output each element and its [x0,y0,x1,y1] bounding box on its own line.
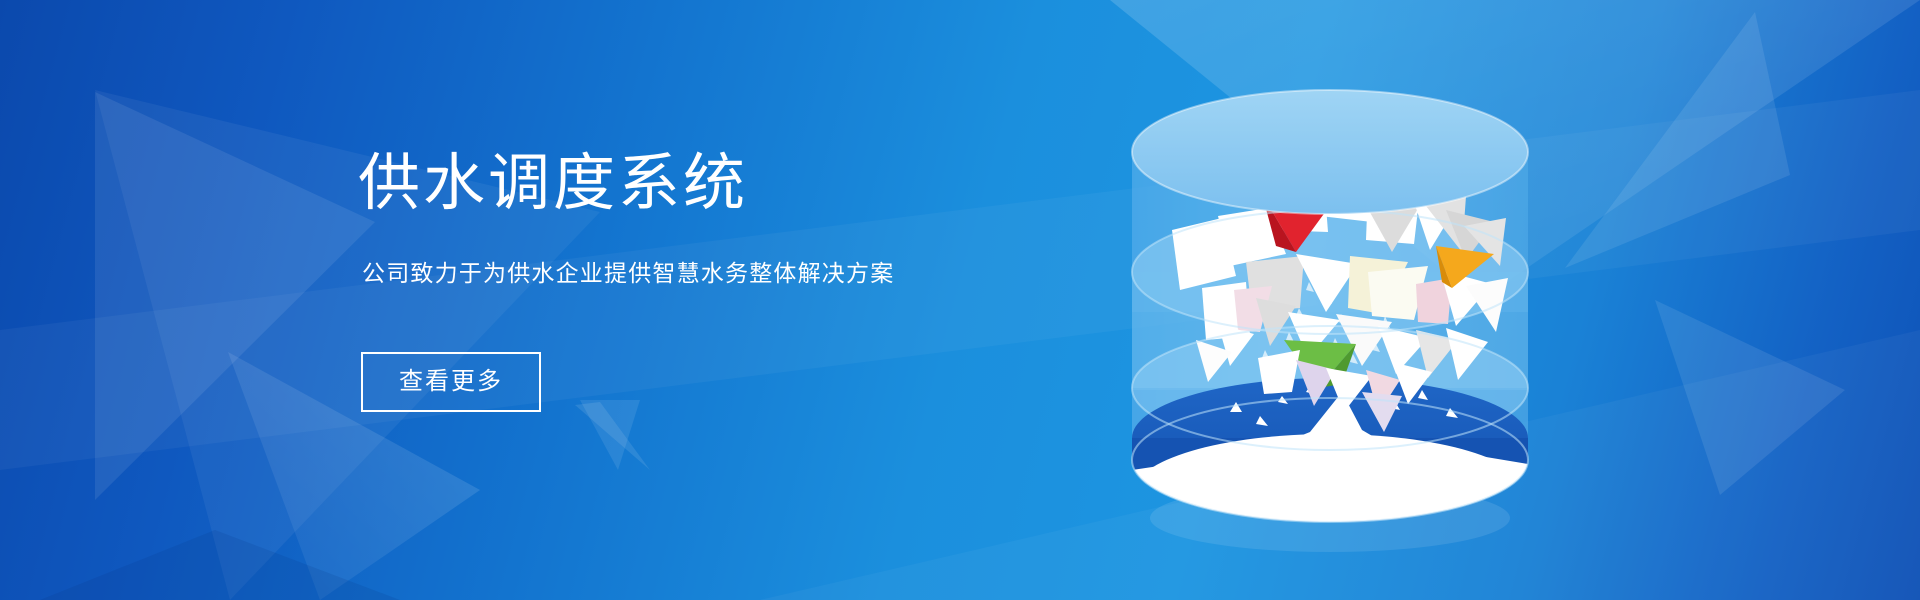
triangle-right-lower [1655,300,1845,495]
view-more-button[interactable]: 查看更多 [361,352,541,412]
hero-banner: 供水调度系统 公司致力于为供水企业提供智慧水务整体解决方案 查看更多 [0,0,1920,600]
water-tank-illustration [1110,40,1550,570]
triangle-right-upper [1565,12,1790,268]
triangle-left-arrow [95,92,375,500]
triangle-bottom-dark [40,530,400,600]
page-subtitle: 公司致力于为供水企业提供智慧水务整体解决方案 [362,254,1078,288]
hero-content: 供水调度系统 公司致力于为供水企业提供智慧水务整体解决方案 查看更多 [358,150,1078,412]
tank-reflection [1150,484,1510,552]
page-title: 供水调度系统 [358,150,1078,218]
triangle-center-small [575,402,650,470]
